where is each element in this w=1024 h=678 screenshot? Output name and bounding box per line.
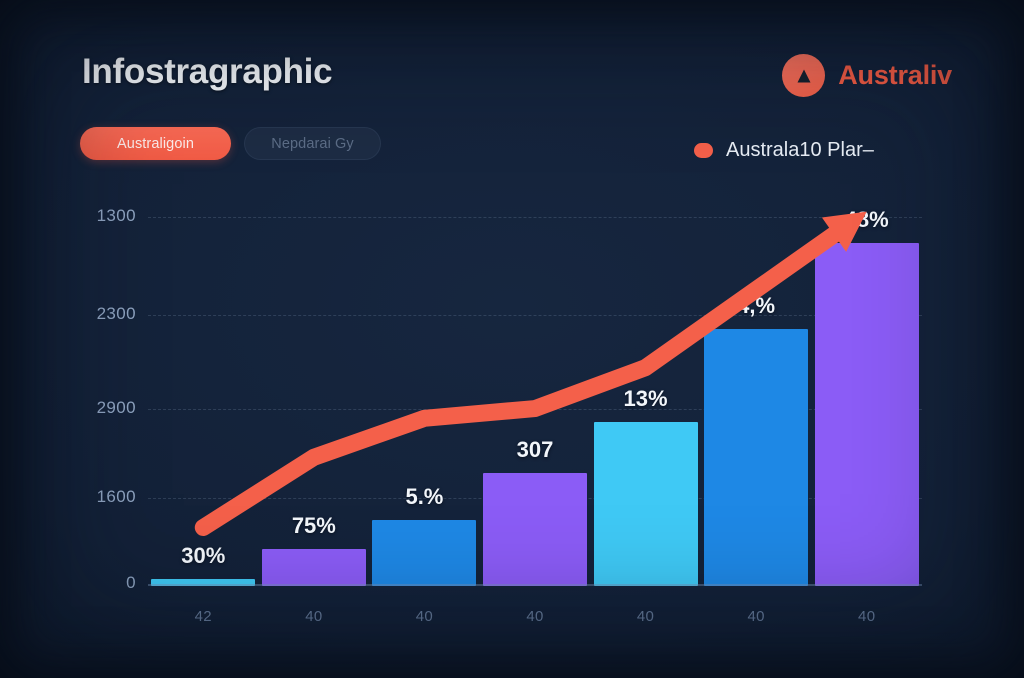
infographic-canvas: Infostragraphic Australigoin Nepdarai Gy… [0, 0, 1024, 678]
triangle-avatar-icon [782, 54, 825, 97]
bar-value-label: 5.% [369, 484, 479, 510]
bar-value-label: 30% [148, 543, 258, 569]
chart-legend: Australa10 Plar– [694, 139, 874, 162]
y-axis-label: 2300 [70, 304, 136, 324]
bar[interactable] [594, 422, 698, 586]
bar[interactable] [704, 329, 808, 586]
legend-dot-icon [694, 143, 713, 158]
chart-axis-baseline [148, 584, 922, 586]
tab-australigoin[interactable]: Australigoin [80, 127, 231, 160]
y-axis-label: 1600 [70, 487, 136, 507]
bar-value-label: 307 [480, 437, 590, 463]
x-axis-label: 40 [721, 608, 791, 625]
gridline-0 [148, 217, 922, 218]
y-axis-label: 2900 [70, 398, 136, 418]
bar-value-label: 13% [591, 386, 701, 412]
x-axis-label: 40 [389, 608, 459, 625]
bar-value-label: 48% [812, 207, 922, 233]
y-axis-label: 1300 [70, 206, 136, 226]
y-axis-label: 0 [70, 573, 136, 593]
x-axis-label: 40 [279, 608, 349, 625]
tab-nepdarai-gy-label: Nepdarai Gy [271, 136, 354, 152]
x-axis-label: 40 [832, 608, 902, 625]
tab-nepdarai-gy[interactable]: Nepdarai Gy [244, 127, 381, 160]
legend-item-label: Australa10 Plar– [726, 139, 874, 162]
x-axis-label: 40 [611, 608, 681, 625]
bar[interactable] [483, 473, 587, 586]
bar[interactable] [372, 520, 476, 586]
x-axis-label: 42 [168, 608, 238, 625]
page-title: Infostragraphic [82, 52, 332, 92]
tab-australigoin-label: Australigoin [117, 136, 194, 152]
brand-name: Australiv [838, 60, 952, 91]
bar[interactable] [815, 243, 919, 586]
bar-value-label: 4,% [701, 293, 811, 319]
x-axis-label: 40 [500, 608, 570, 625]
bar[interactable] [262, 549, 366, 586]
bar-value-label: 75% [259, 513, 369, 539]
brand-badge[interactable]: Australiv [782, 54, 952, 97]
